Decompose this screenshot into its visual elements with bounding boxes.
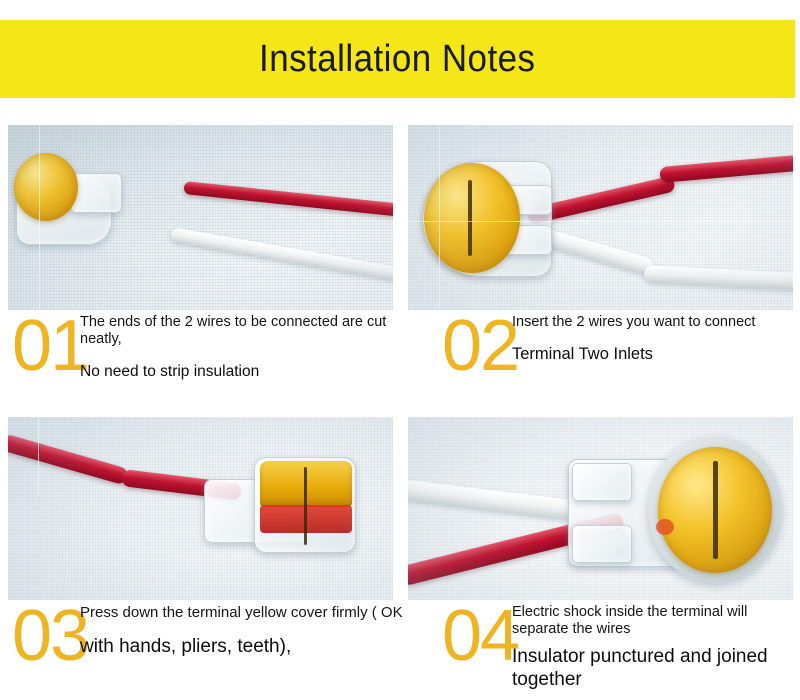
steps-grid: 01 The ends of the 2 wires to be connect… <box>0 125 800 700</box>
step-line-1: Insert the 2 wires you want to connect <box>512 314 800 331</box>
step-photo-01 <box>8 125 393 310</box>
step-caption-text-03: Press down the terminal yellow cover fir… <box>80 604 425 658</box>
step-caption-text-02: Insert the 2 wires you want to connect T… <box>512 314 800 364</box>
connector-cap-slot <box>304 467 307 545</box>
connector-clear-inlet <box>70 173 122 213</box>
step-number-04: 04 <box>442 602 518 670</box>
step-card-04: 04 Electric shock inside the terminal wi… <box>408 417 798 700</box>
step-card-02: 02 Insert the 2 wires you want to connec… <box>408 125 798 410</box>
step-photo-03 <box>8 417 393 600</box>
crop-guide-vertical <box>39 125 40 310</box>
step-line-1: The ends of the 2 wires to be connected … <box>80 314 400 348</box>
step-line-2: Terminal Two Inlets <box>512 344 800 364</box>
connector-red-spot <box>656 519 674 535</box>
step-caption-01: 01 The ends of the 2 wires to be connect… <box>8 310 398 410</box>
step-caption-03: 03 Press down the terminal yellow cover … <box>8 600 398 700</box>
step-line-2: No need to strip insulation <box>80 363 400 382</box>
step-photo-02 <box>408 125 793 310</box>
step-line-2: Insulator punctured and joined together <box>512 645 800 691</box>
step-card-01: 01 The ends of the 2 wires to be connect… <box>8 125 398 410</box>
step-line-1: Electric shock inside the terminal will … <box>512 604 800 638</box>
page-header-banner: Installation Notes <box>0 20 795 98</box>
step-caption-02: 02 Insert the 2 wires you want to connec… <box>408 310 798 410</box>
step-photo-04 <box>408 417 793 600</box>
crop-guide-vertical <box>439 125 440 310</box>
step-caption-text-01: The ends of the 2 wires to be connected … <box>80 314 400 382</box>
connector-yellow-cap <box>14 153 78 221</box>
connector-cap-slot <box>468 180 472 256</box>
step-number-01: 01 <box>12 312 88 380</box>
connector-clear-inlet <box>572 463 632 501</box>
step-line-1: Press down the terminal yellow cover fir… <box>80 604 425 622</box>
step-card-03: 03 Press down the terminal yellow cover … <box>8 417 398 700</box>
crop-guide-horizontal <box>408 221 793 222</box>
step-number-03: 03 <box>12 602 88 670</box>
connector-cap-slot <box>713 461 718 559</box>
step-number-02: 02 <box>442 312 518 380</box>
page-title: Installation Notes <box>259 38 535 81</box>
step-caption-text-04: Electric shock inside the terminal will … <box>512 604 800 692</box>
crop-guide-vertical <box>38 417 39 495</box>
step-caption-04: 04 Electric shock inside the terminal wi… <box>408 600 798 700</box>
connector-clear-inlet-2 <box>572 525 632 563</box>
step-line-2: with hands, pliers, teeth), <box>80 635 425 658</box>
